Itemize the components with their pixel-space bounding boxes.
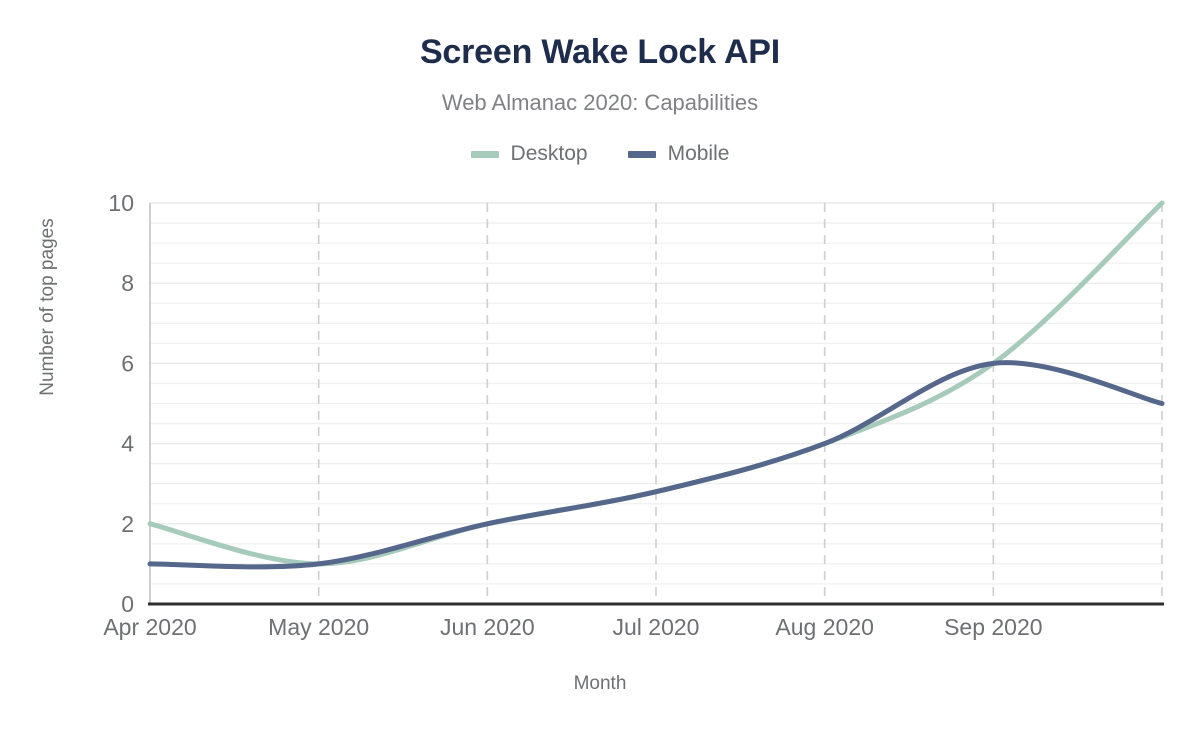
- plot-area: 0246810 Apr 2020May 2020Jun 2020Jul 2020…: [0, 0, 1200, 742]
- svg-text:4: 4: [121, 431, 134, 457]
- x-axis-tick-labels: Apr 2020May 2020Jun 2020Jul 2020Aug 2020…: [103, 614, 1042, 640]
- svg-text:Jun 2020: Jun 2020: [440, 614, 535, 640]
- chart-container: Screen Wake Lock API Web Almanac 2020: C…: [0, 0, 1200, 742]
- svg-text:10: 10: [108, 190, 134, 216]
- svg-text:Sep 2020: Sep 2020: [944, 614, 1042, 640]
- svg-text:8: 8: [121, 270, 134, 296]
- svg-text:Jul 2020: Jul 2020: [613, 614, 700, 640]
- svg-text:6: 6: [121, 350, 134, 376]
- x-axis-title: Month: [0, 673, 1200, 695]
- svg-text:May 2020: May 2020: [268, 614, 369, 640]
- svg-text:2: 2: [121, 511, 134, 537]
- svg-text:Apr 2020: Apr 2020: [103, 614, 196, 640]
- svg-text:Aug 2020: Aug 2020: [775, 614, 873, 640]
- y-axis-title: Number of top pages: [37, 197, 59, 417]
- y-axis-tick-labels: 0246810: [108, 190, 134, 617]
